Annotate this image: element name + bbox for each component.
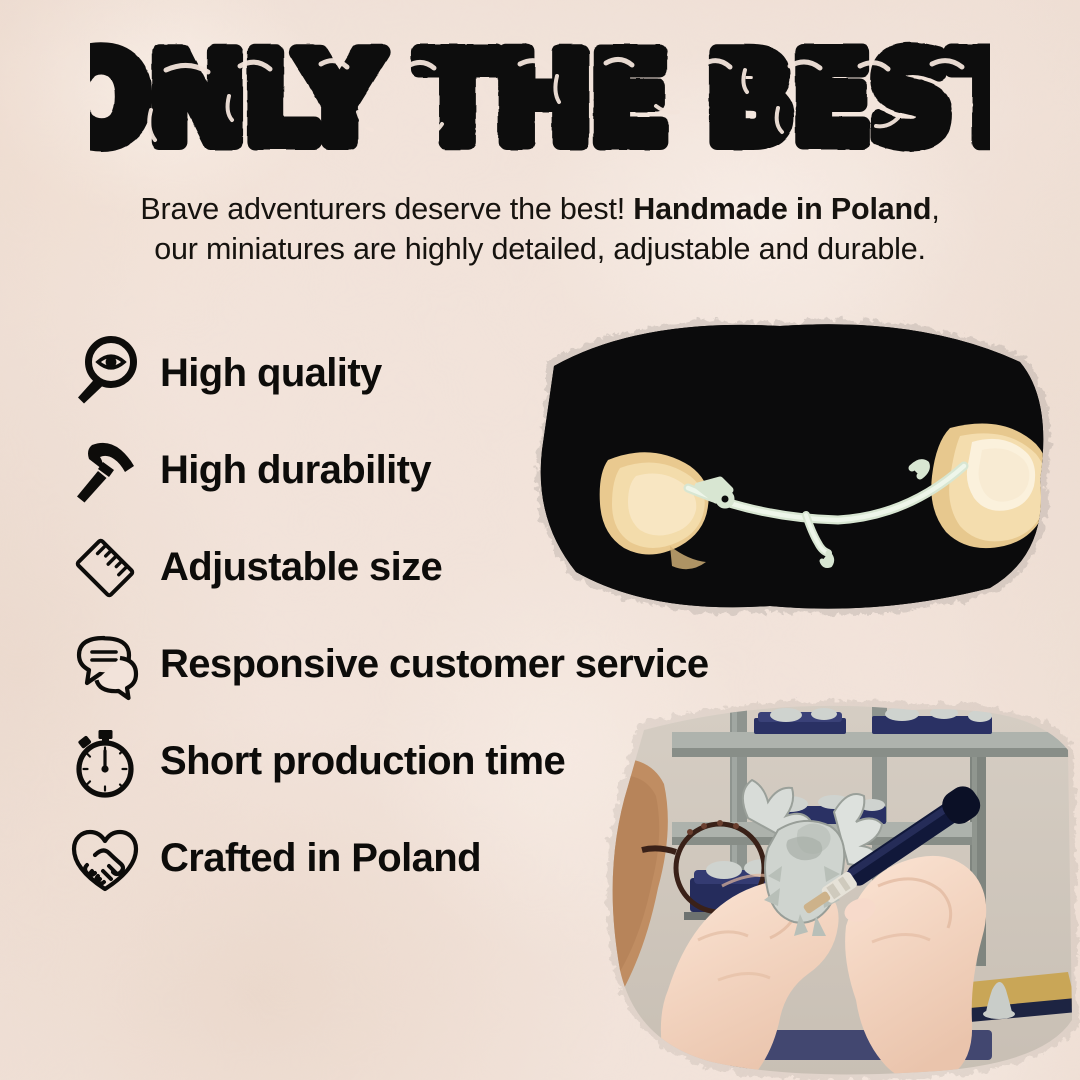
ruler-icon (62, 525, 148, 611)
subtitle-bold-text: Handmade in Poland (633, 192, 931, 226)
feature-label: Responsive customer service (160, 642, 709, 687)
feature-label: Adjustable size (160, 545, 442, 590)
speech-bubbles-icon (62, 622, 148, 708)
feature-label: High quality (160, 351, 382, 396)
stopwatch-icon (62, 719, 148, 805)
subtitle-lead-text: Brave adventurers deserve the best! (140, 192, 633, 226)
poster-canvas: ONLY THE BEST (0, 0, 1080, 1080)
flexible-miniature-photo-art (520, 300, 1065, 630)
feature-label: High durability (160, 448, 431, 493)
subtitle-line-1: Brave adventurers deserve the best! Hand… (60, 190, 1020, 230)
subtitle-block: Brave adventurers deserve the best! Hand… (60, 190, 1020, 269)
subtitle-tail-text: , (931, 192, 939, 226)
feature-label: Crafted in Poland (160, 836, 481, 881)
subtitle-line-2: our miniatures are highly detailed, adju… (60, 230, 1020, 270)
workshop-crafting-photo-art (572, 690, 1080, 1080)
magnifier-eye-icon (62, 331, 148, 417)
workshop-crafting-photo (572, 690, 1080, 1080)
headline-block: ONLY THE BEST (0, 36, 1080, 166)
flexible-miniature-photo (520, 300, 1065, 630)
feature-label: Short production time (160, 739, 565, 784)
headline-text: ONLY THE BEST (90, 36, 990, 166)
hammer-icon (62, 428, 148, 514)
headline-ONLY-THE-BEST: ONLY THE BEST (90, 36, 990, 166)
handshake-heart-icon (62, 816, 148, 902)
